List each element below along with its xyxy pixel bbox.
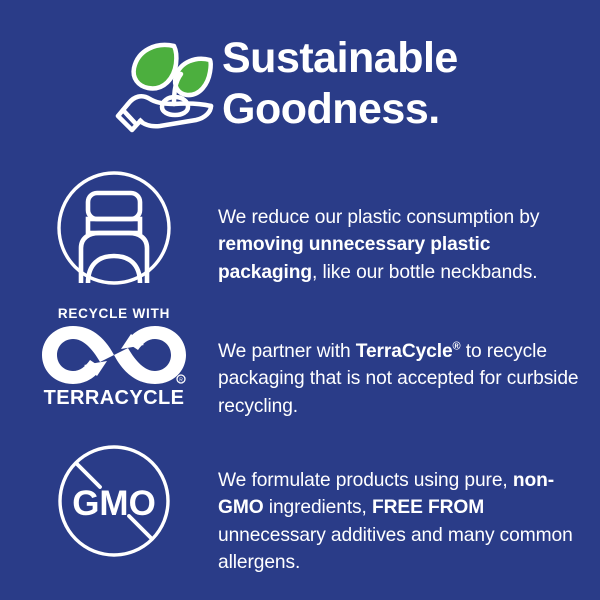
terracycle-logo: RECYCLE WITH R TERRACYCLE xyxy=(38,306,190,410)
feature-row-gmo: GMO We formulate products using pure, no… xyxy=(0,442,600,595)
feature-text-terracycle: We partner with TerraCycle® to recycle p… xyxy=(218,338,588,420)
gmo-label: GMO xyxy=(72,484,156,523)
no-gmo-circle-icon: GMO xyxy=(56,442,172,560)
terracycle-top-label: RECYCLE WITH xyxy=(58,306,170,321)
page-title: Sustainable Goodness. xyxy=(222,37,458,131)
title-line-1: Sustainable xyxy=(222,37,458,80)
icon-cell-3: GMO xyxy=(0,442,218,560)
title-line-2: Goodness. xyxy=(222,88,458,131)
terracycle-bottom-label: TERRACYCLE xyxy=(44,387,185,410)
icon-cell-2: RECYCLE WITH R TERRACYCLE xyxy=(0,306,218,410)
icon-cell-1 xyxy=(0,168,218,288)
text-cell-3: We formulate products using pure, non-GM… xyxy=(218,442,600,595)
svg-text:R: R xyxy=(179,378,183,384)
infinity-arrows-icon: R xyxy=(40,324,188,386)
feature-text-gmo: We formulate products using pure, non-GM… xyxy=(218,467,588,576)
text-cell-2: We partner with TerraCycle® to recycle p… xyxy=(218,306,600,439)
feature-text-plastic: We reduce our plastic consumption by rem… xyxy=(218,204,588,286)
hand-holding-sprout-icon xyxy=(112,34,216,134)
header: Sustainable Goodness. xyxy=(0,24,600,144)
bottle-neckband-circle-icon xyxy=(55,168,173,288)
feature-row-plastic: We reduce our plastic consumption by rem… xyxy=(0,168,600,305)
feature-row-terracycle: RECYCLE WITH R TERRACYCLE xyxy=(0,306,600,439)
text-cell-1: We reduce our plastic consumption by rem… xyxy=(218,168,600,305)
